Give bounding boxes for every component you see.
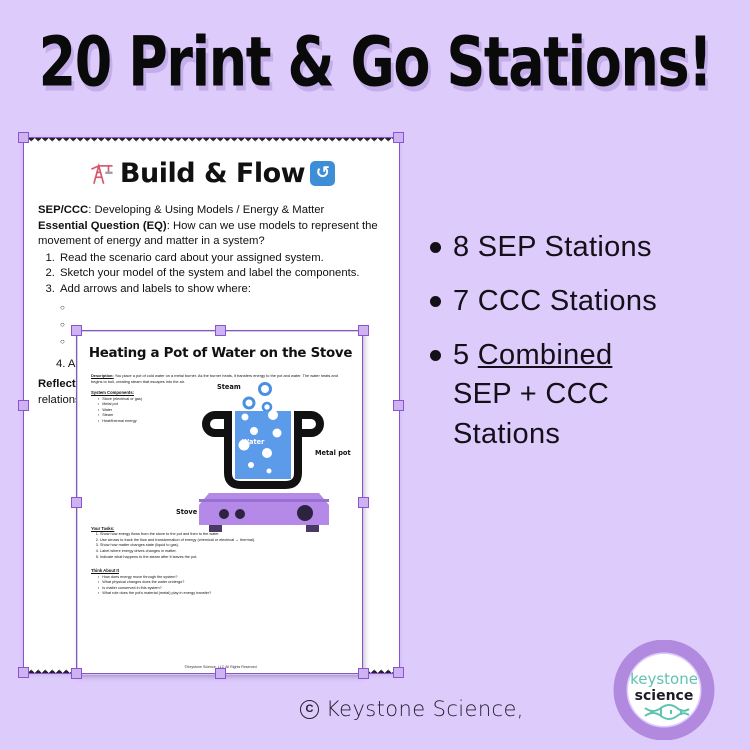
keystone-science-logo: keystone science [605,640,723,740]
card-handle-tr[interactable] [358,325,369,336]
card-handle-br[interactable] [358,668,369,679]
logo-line1: keystone [630,670,698,688]
resize-handle-bl[interactable] [18,667,29,678]
bullet-label: SEP Stations [478,231,652,263]
card-handle-tl[interactable] [71,325,82,336]
slide-canvas: 20 Print & Go Stations! [0,0,750,750]
bullet-dot-icon [430,242,441,253]
page-title: 20 Print & Go Stations! [26,22,724,102]
feature-bullet-list: 8 SEP Stations 7 CCC Stations 5 Combined… [430,228,740,454]
card-handle-tm[interactable] [215,325,226,336]
scenario-card[interactable]: Heating a Pot of Water on the Stove Desc… [77,331,362,673]
bullet-count: 7 [453,285,469,317]
bullet-count: 5 [453,339,469,371]
card-handle-mr[interactable] [358,497,369,508]
card-handle-bm[interactable] [215,668,226,679]
feature-bullet-continuation-2: Stations [453,414,740,454]
feature-bullet-text: 8 SEP Stations [453,228,652,266]
bullet-count: 8 [453,231,469,263]
feature-bullet: 8 SEP Stations [430,228,740,266]
resize-handle-br[interactable] [393,667,404,678]
logo-line2: science [635,688,694,704]
feature-bullet: 7 CCC Stations [430,282,740,320]
card-handle-ml[interactable] [71,497,82,508]
brand-credit: C Keystone Science, [300,697,524,721]
feature-bullet-continuation-1: SEP + CCC [453,374,740,414]
resize-handle-mr[interactable] [393,400,404,411]
feature-bullet: 5 Combined [430,336,740,374]
bullet-label: CCC Stations [478,285,657,317]
selection-box-card [76,330,363,674]
card-handle-bl[interactable] [71,668,82,679]
copyright-icon: C [300,700,319,719]
resize-handle-tr[interactable] [393,132,404,143]
feature-bullet-text: 7 CCC Stations [453,282,657,320]
resize-handle-tl[interactable] [18,132,29,143]
resize-handle-ml[interactable] [18,400,29,411]
brand-name: Keystone Science, [326,697,524,721]
bullet-dot-icon [430,350,441,361]
bullet-label-underlined: Combined [478,339,613,371]
feature-bullet-text: 5 Combined [453,336,612,374]
bullet-dot-icon [430,296,441,307]
